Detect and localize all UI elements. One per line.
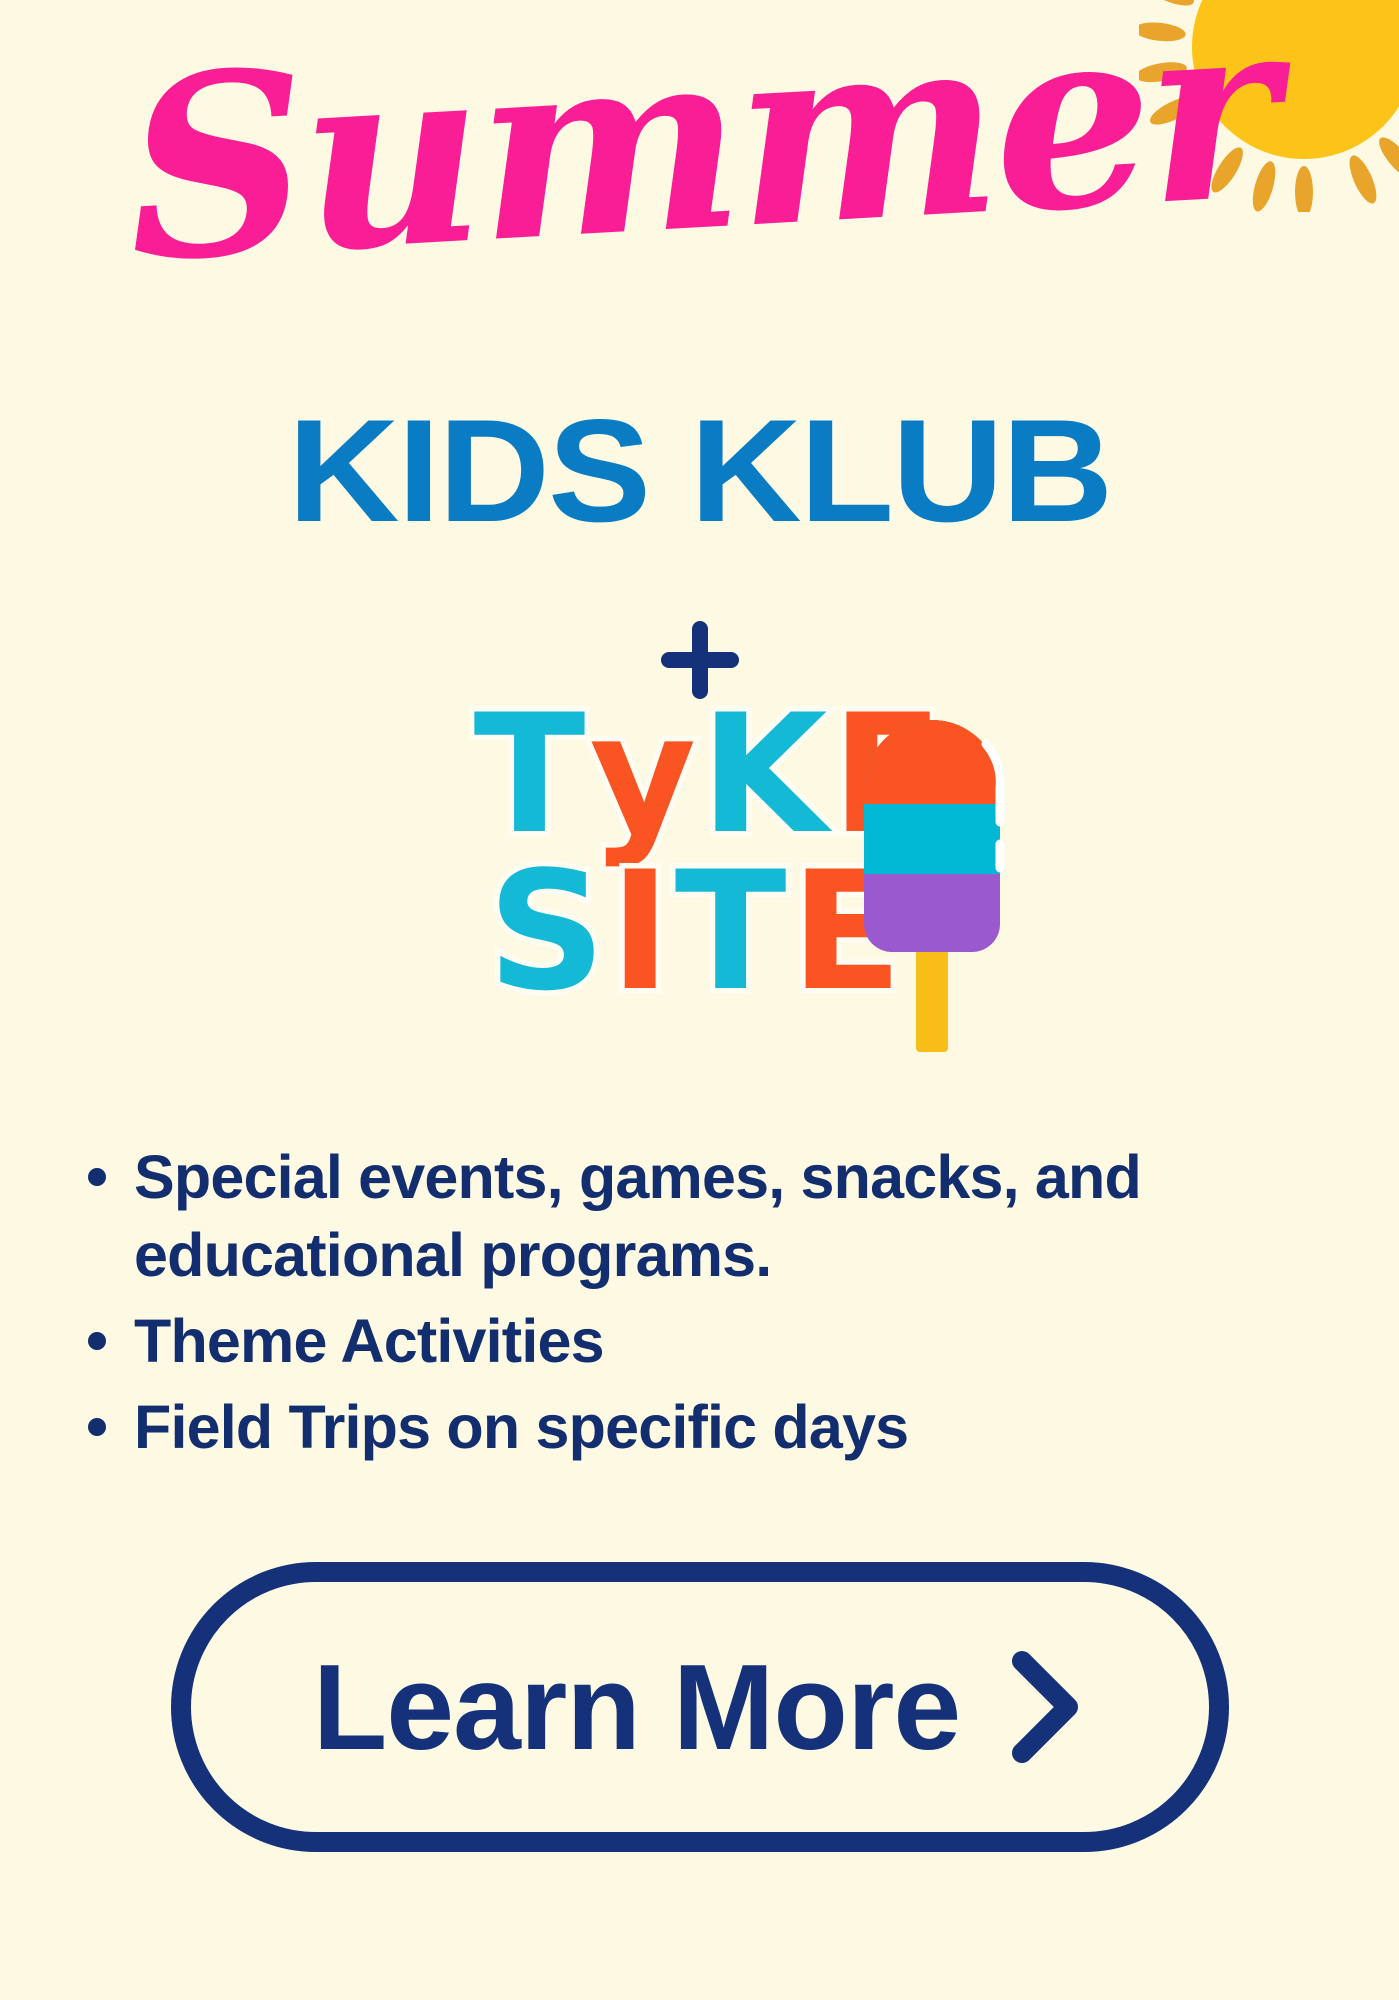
- learn-more-button[interactable]: Learn More: [171, 1562, 1229, 1852]
- logo-line-site: S I T E: [486, 857, 905, 1008]
- bullet-dot-icon: [88, 1168, 106, 1186]
- bullet-dot-icon: [88, 1418, 106, 1436]
- learn-more-label: Learn More: [313, 1646, 961, 1768]
- cta-container: Learn More: [0, 1562, 1399, 1852]
- list-item: Special events, games, snacks, and educa…: [88, 1138, 1328, 1294]
- promo-poster: Summer KIDS KLUB T y K E S I T E: [0, 0, 1399, 2000]
- logo-char-s: S: [486, 857, 608, 1008]
- page-title-script: Summer: [0, 0, 1399, 303]
- feature-list: Special events, games, snacks, and educa…: [88, 1138, 1328, 1474]
- logo-char-i: I: [608, 857, 673, 1008]
- tyke-site-logo: T y K E S I T E: [0, 700, 1399, 1008]
- logo-char-k: K: [698, 700, 829, 851]
- chevron-right-icon: [1004, 1647, 1086, 1767]
- logo-char-y: y: [587, 700, 698, 851]
- bullet-dot-icon: [88, 1332, 106, 1350]
- list-item: Theme Activities: [88, 1302, 1328, 1380]
- popsicle-icon: [848, 692, 1016, 1052]
- page-title: KIDS KLUB: [0, 398, 1399, 544]
- list-item: Field Trips on specific days: [88, 1388, 1328, 1466]
- logo-char-t2: T: [673, 857, 789, 1008]
- logo-char-t1: T: [472, 700, 588, 851]
- list-item-label: Special events, games, snacks, and educa…: [134, 1138, 1284, 1294]
- list-item-label: Theme Activities: [134, 1302, 604, 1380]
- list-item-label: Field Trips on specific days: [134, 1388, 908, 1466]
